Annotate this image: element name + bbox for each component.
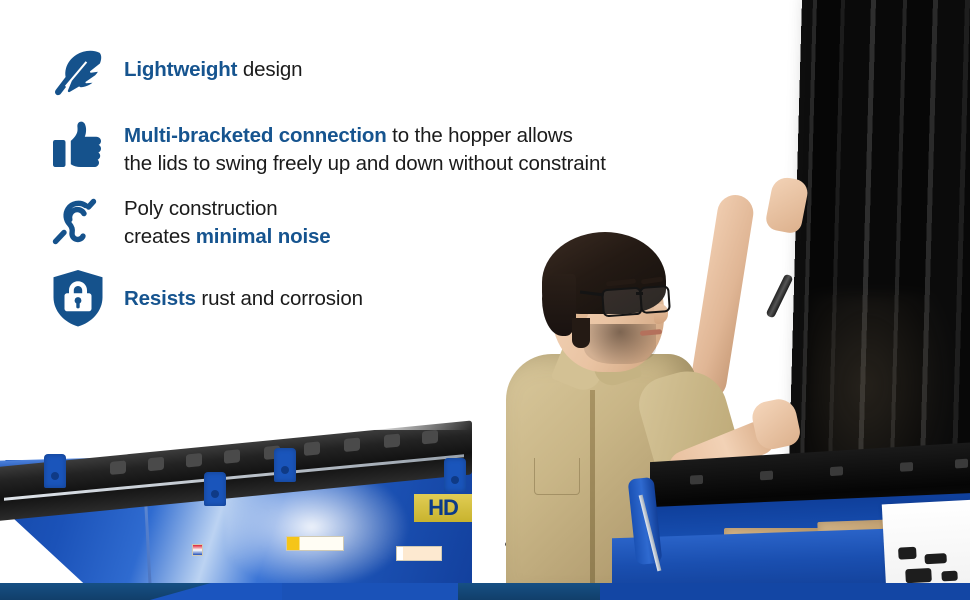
feature-list: Lightweight design Multi-bracketed conne… [52, 48, 712, 349]
feature-plain: design [237, 58, 302, 81]
blue-hopper-left: HD [0, 446, 472, 600]
feather-icon [52, 48, 124, 100]
ear-hearing-icon [52, 195, 124, 249]
warning-decal [286, 536, 344, 551]
lid-mounting-bracket [44, 454, 66, 488]
feature-item-resists-rust: Resists rust and corrosion [52, 269, 712, 327]
shield-lock-icon [52, 269, 124, 327]
feature-emphasis: minimal noise [196, 225, 331, 248]
feature-text-minimal-noise: Poly construction creates minimal noise [124, 195, 331, 252]
feature-text-lightweight: Lightweight design [124, 48, 302, 84]
feature-item-multi-bracketed: Multi-bracketed connection to the hopper… [52, 120, 712, 179]
lid-mounting-bracket [274, 448, 296, 482]
spec-sheet [882, 500, 970, 593]
capacity-decal [396, 546, 442, 561]
footer-band-overlap [282, 583, 458, 600]
feature-plain: rust and corrosion [196, 287, 363, 310]
feature-plain: creates [124, 225, 196, 248]
feature-line: Lightweight design [124, 56, 302, 84]
hopper-brand-badge: HD [414, 494, 472, 522]
feature-plain: Poly construction [124, 197, 278, 220]
feature-line: creates minimal noise [124, 223, 331, 251]
usa-flag-decal [192, 544, 203, 556]
black-poly-lid-raised [793, 0, 970, 506]
feature-item-lightweight: Lightweight design [52, 48, 712, 100]
lid-mounting-bracket [204, 472, 226, 506]
thumbs-up-icon [52, 120, 124, 172]
feature-text-resists-rust: Resists rust and corrosion [124, 269, 363, 313]
shirt-placket [590, 390, 595, 600]
feature-plain: the lids to swing freely up and down wit… [124, 152, 606, 175]
feature-plain: to the hopper allows [387, 124, 573, 147]
feature-emphasis: Multi-bracketed connection [124, 124, 387, 147]
feature-line: the lids to swing freely up and down wit… [124, 150, 606, 178]
feature-line: Poly construction [124, 195, 331, 223]
lid-mounting-bracket [444, 458, 466, 492]
feature-line: Multi-bracketed connection to the hopper… [124, 122, 606, 150]
feature-item-minimal-noise: Poly construction creates minimal noise [52, 195, 712, 252]
footer-band-overlap [600, 583, 970, 600]
promo-banner: HD Lightweight design [0, 0, 970, 600]
feature-emphasis: Lightweight [124, 58, 237, 81]
feature-line: Resists rust and corrosion [124, 285, 363, 313]
shirt-pocket [534, 458, 580, 495]
feature-text-multi-bracketed: Multi-bracketed connection to the hopper… [124, 120, 606, 179]
feature-emphasis: Resists [124, 287, 196, 310]
